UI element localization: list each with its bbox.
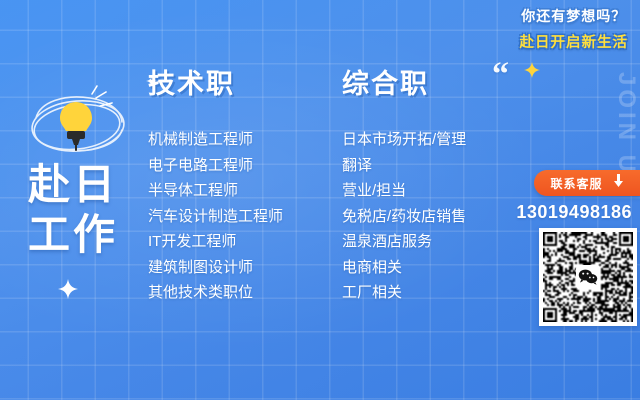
contact-support-button[interactable]: 联系客服 xyxy=(534,170,640,196)
list-item: 营业/担当 xyxy=(342,178,466,204)
list-item: 翻译 xyxy=(342,153,466,179)
column-technical: 技术职 机械制造工程师 电子电路工程师 半导体工程师 汽车设计制造工程师 IT开… xyxy=(148,62,283,306)
page-title-line-1: 赴日 xyxy=(28,160,118,210)
list-item: 电子电路工程师 xyxy=(148,153,283,179)
page-title: 赴日 工作 xyxy=(28,160,118,260)
qr-code[interactable] xyxy=(539,228,637,326)
list-item: 汽车设计制造工程师 xyxy=(148,204,283,230)
contact-support-label: 联系客服 xyxy=(550,175,602,192)
sparkle-icon xyxy=(58,279,78,304)
list-item: 半导体工程师 xyxy=(148,178,283,204)
slogan-line-2: 赴日开启新生活 xyxy=(520,31,629,52)
list-item: 电商相关 xyxy=(342,255,466,281)
list-item: 建筑制图设计师 xyxy=(148,255,283,281)
lightbulb-icon xyxy=(22,82,134,166)
slogan-block: 你还有梦想吗？ 赴日开启新生活 xyxy=(520,6,629,52)
list-item: IT开发工程师 xyxy=(148,229,283,255)
job-list-technical: 机械制造工程师 电子电路工程师 半导体工程师 汽车设计制造工程师 IT开发工程师… xyxy=(148,127,283,306)
page-title-line-2: 工作 xyxy=(28,210,118,260)
star-icon xyxy=(524,62,540,83)
list-item: 免税店/药妆店销售 xyxy=(342,204,466,230)
poster-canvas: 赴日 工作 技术职 机械制造工程师 电子电路工程师 半导体工程师 汽车设计制造工… xyxy=(0,0,640,400)
quote-mark-icon: “ xyxy=(492,58,509,92)
join-us-watermark: JOIN U xyxy=(614,72,638,176)
column-heading-technical: 技术职 xyxy=(148,62,283,101)
list-item: 工厂相关 xyxy=(342,280,466,306)
column-heading-general: 综合职 xyxy=(342,62,466,101)
contact-phone-number: 13019498186 xyxy=(516,202,632,223)
list-item: 机械制造工程师 xyxy=(148,127,283,153)
lightbulb-illustration xyxy=(22,82,134,166)
wechat-logo-icon xyxy=(576,265,600,289)
slogan-line-1: 你还有梦想吗？ xyxy=(520,6,629,26)
column-general: 综合职 日本市场开拓/管理 翻译 营业/担当 免税店/药妆店销售 温泉酒店服务 … xyxy=(342,62,466,306)
job-list-general: 日本市场开拓/管理 翻译 营业/担当 免税店/药妆店销售 温泉酒店服务 电商相关… xyxy=(342,127,466,306)
list-item: 温泉酒店服务 xyxy=(342,229,466,255)
list-item: 其他技术类职位 xyxy=(148,280,283,306)
list-item: 日本市场开拓/管理 xyxy=(342,127,466,153)
arrow-down-icon xyxy=(613,174,624,192)
